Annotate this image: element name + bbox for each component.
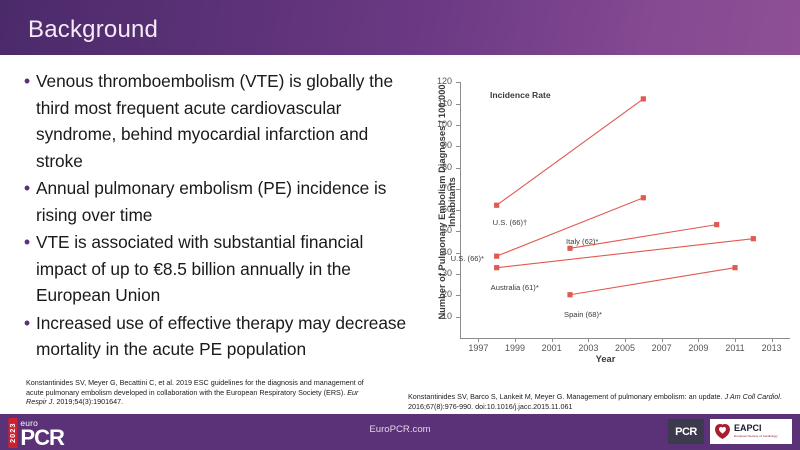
eapci-subtitle: European Society of Cardiology xyxy=(734,434,778,439)
chart-series-label: Italy (62)* xyxy=(566,237,599,246)
chart-data-point xyxy=(751,236,756,241)
chart-line-4 xyxy=(570,268,735,295)
bullet-text: Venous thromboembolism (VTE) is globally… xyxy=(36,68,413,174)
chart-data-point xyxy=(567,246,572,251)
pcr-badge-logo: PCR xyxy=(668,419,704,444)
bullet-text: Annual pulmonary embolism (PE) incidence… xyxy=(36,175,413,228)
chart-series-layer xyxy=(418,66,793,376)
chart-data-point xyxy=(567,292,572,297)
citation-right: Konstantinides SV, Barco S, Lankeit M, M… xyxy=(408,392,793,411)
bullet-list: • Venous thromboembolism (VTE) is global… xyxy=(18,68,413,364)
chart-data-point xyxy=(494,203,499,208)
bullet-marker-icon: • xyxy=(18,175,36,201)
citation-left-part2: . 2019;54(3):1901647. xyxy=(52,397,123,406)
bullet-marker-icon: • xyxy=(18,68,36,94)
pcr-badge-label: PCR xyxy=(675,426,697,438)
logo-year-badge: 2023 xyxy=(8,418,17,448)
chart-line-0 xyxy=(497,99,644,205)
chart-data-point xyxy=(641,195,646,200)
eapci-logo: EAPCI European Society of Cardiology xyxy=(710,419,792,444)
citation-left: Konstantinides SV, Meyer G, Becattini C,… xyxy=(26,378,381,407)
chart-data-point xyxy=(714,222,719,227)
heart-icon xyxy=(714,423,731,440)
chart-series-label: U.S. (66)† xyxy=(493,218,528,227)
list-item: • Annual pulmonary embolism (PE) inciden… xyxy=(18,175,413,228)
logo-pcr-word: PCR xyxy=(20,428,63,448)
chart-data-point xyxy=(494,265,499,270)
chart-data-point xyxy=(494,254,499,259)
citation-right-part1: Konstantinides SV, Barco S, Lankeit M, M… xyxy=(408,392,725,401)
eapci-name: EAPCI xyxy=(734,424,778,433)
list-item: • Venous thromboembolism (VTE) is global… xyxy=(18,68,413,174)
chart-line-3 xyxy=(497,239,754,268)
chart-data-point xyxy=(732,265,737,270)
citation-right-journal: J Am Coll Cardiol xyxy=(725,392,780,401)
bullet-marker-icon: • xyxy=(18,229,36,255)
bullet-marker-icon: • xyxy=(18,310,36,336)
citation-left-part1: Konstantinides SV, Meyer G, Becattini C,… xyxy=(26,378,364,397)
chart-series-label: U.S. (66)* xyxy=(451,254,484,263)
europcr-logo: 2023 euro PCR xyxy=(8,416,64,448)
chart-series-label: Spain (68)* xyxy=(564,310,602,319)
chart-series-label: Australia (61)* xyxy=(491,283,539,292)
bullet-text: Increased use of effective therapy may d… xyxy=(36,310,413,363)
page-title: Background xyxy=(28,16,158,44)
bullet-text: VTE is associated with substantial finan… xyxy=(36,229,413,309)
slide-header-bar: Background xyxy=(0,0,800,55)
chart-data-point xyxy=(641,96,646,101)
incidence-rate-chart: Number of Pulmonary Embolism Diagnoses /… xyxy=(418,66,793,376)
list-item: • VTE is associated with substantial fin… xyxy=(18,229,413,309)
list-item: • Increased use of effective therapy may… xyxy=(18,310,413,363)
